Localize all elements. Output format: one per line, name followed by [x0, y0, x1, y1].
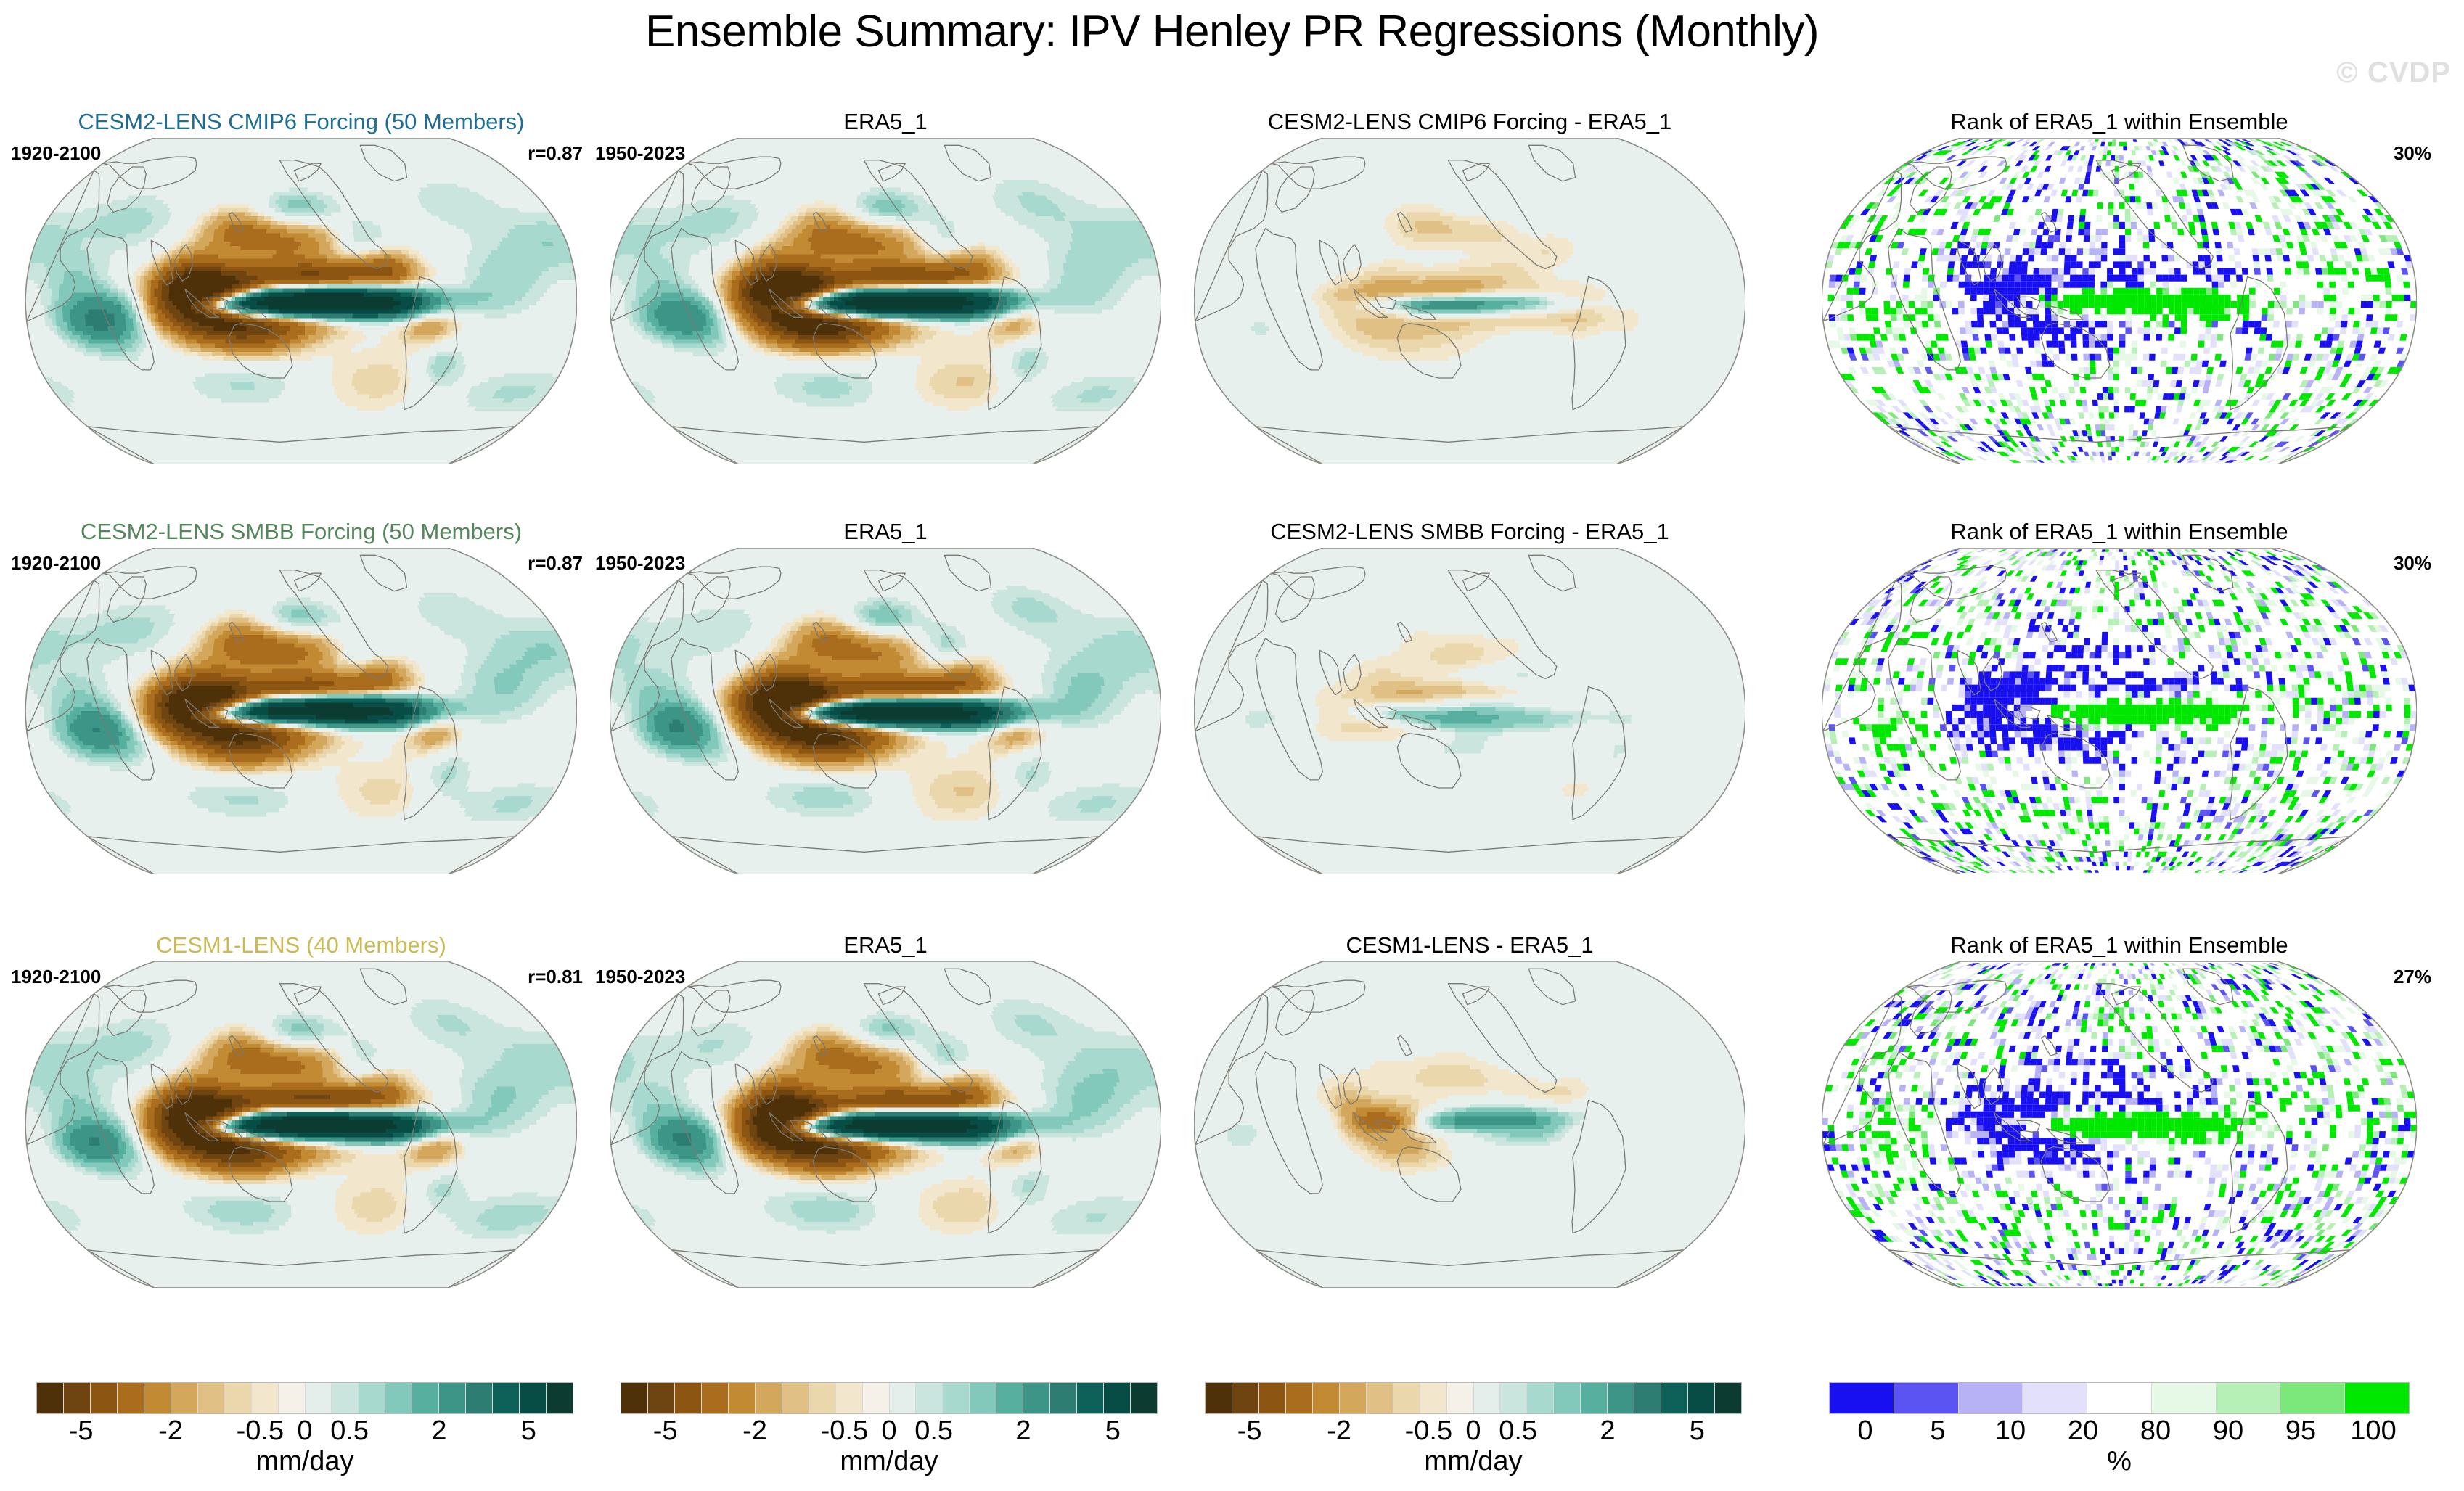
map-canvas-anom	[25, 548, 577, 874]
colorbar-tick-label: 80	[2140, 1416, 2171, 1447]
colorbar-swatch	[1634, 1383, 1661, 1413]
colorbar-swatch	[1077, 1383, 1104, 1413]
colorbar-swatch	[1023, 1383, 1050, 1413]
map-canvas-diff	[1194, 138, 1745, 464]
panel-title: CESM2-LENS SMBB Forcing (50 Members)	[11, 519, 592, 545]
colorbar-swatch	[1447, 1383, 1474, 1413]
colorbar-swatch	[225, 1383, 252, 1413]
panel-title: CESM1-LENS - ERA5_1	[1179, 932, 1760, 958]
colorbar-tick-label: 10	[1995, 1416, 2026, 1447]
colorbar-swatch	[996, 1383, 1023, 1413]
map-panel-cesm1-col3: CESM1-LENS - ERA5_1	[1179, 932, 1760, 1339]
colorbar-swatch	[547, 1383, 573, 1413]
colorbar-rank-percent: 051020809095100%	[1829, 1382, 2410, 1484]
colorbar-tick-label: -0.5	[237, 1416, 284, 1447]
map-panel-cesm2-cmip6-col1: CESM2-LENS CMIP6 Forcing (50 Members)192…	[11, 109, 592, 515]
colorbar-swatch	[675, 1383, 702, 1413]
map-canvas-anom	[25, 961, 577, 1288]
colorbar-swatch	[520, 1383, 547, 1413]
colorbar-tick-label: 2	[1015, 1416, 1031, 1447]
colorbar-swatch	[970, 1383, 996, 1413]
colorbar-unit-label: mm/day	[1205, 1446, 1742, 1477]
colorbar-swatch	[648, 1383, 675, 1413]
colorbar-swatch	[439, 1383, 466, 1413]
colorbar-swatch	[1313, 1383, 1340, 1413]
colorbar-swatch	[1340, 1383, 1367, 1413]
colorbar-swatch	[756, 1383, 782, 1413]
colorbar-swatch	[118, 1383, 144, 1413]
map-panel-cesm2-smbb-col2: ERA5_11950-2023	[595, 519, 1176, 925]
colorbar-swatch	[943, 1383, 970, 1413]
colorbar-swatch	[1688, 1383, 1715, 1413]
colorbar-swatch	[1367, 1383, 1393, 1413]
colorbar-swatch	[1581, 1383, 1608, 1413]
colorbar-mmday-3: -5-2-0.500.525mm/day	[1205, 1382, 1742, 1484]
colorbar-swatch	[2023, 1383, 2087, 1413]
panel-title: CESM2-LENS CMIP6 Forcing (50 Members)	[11, 109, 592, 135]
colorbar-swatch	[1959, 1383, 2023, 1413]
colorbar-swatch	[1661, 1383, 1688, 1413]
colorbar-swatch	[702, 1383, 729, 1413]
colorbar-swatch	[2217, 1383, 2281, 1413]
colorbar-swatch	[2152, 1383, 2217, 1413]
colorbar-swatch	[1474, 1383, 1501, 1413]
colorbar-ticks: -5-2-0.500.525	[1205, 1416, 1742, 1447]
colorbar-mmday-2: -5-2-0.500.525mm/day	[621, 1382, 1158, 1484]
colorbar-tick-label: 90	[2213, 1416, 2243, 1447]
map-canvas-rank	[1822, 138, 2417, 464]
colorbar-swatch	[1232, 1383, 1259, 1413]
colorbar-swatch	[1830, 1383, 1894, 1413]
colorbar-swatch	[621, 1383, 648, 1413]
colorbar-tick-label: 5	[1105, 1416, 1121, 1447]
colorbar-tick-label: 5	[521, 1416, 536, 1447]
colorbar-tick-label: 0.5	[1499, 1416, 1537, 1447]
colorbar-tick-label: 100	[2350, 1416, 2396, 1447]
panel-title: CESM2-LENS SMBB Forcing - ERA5_1	[1179, 519, 1760, 545]
colorbar-ticks: -5-2-0.500.525	[621, 1416, 1158, 1447]
colorbar-tick-label: 0	[1857, 1416, 1872, 1447]
colorbar-swatch	[359, 1383, 385, 1413]
colorbar-swatch	[863, 1383, 890, 1413]
colorbar-tick-label: 2	[431, 1416, 446, 1447]
colorbar-swatch	[916, 1383, 943, 1413]
colorbar-swatches	[1205, 1382, 1742, 1414]
colorbar-ticks: 051020809095100	[1829, 1416, 2410, 1447]
panel-title: CESM2-LENS CMIP6 Forcing - ERA5_1	[1179, 109, 1760, 135]
colorbar-swatch	[1104, 1383, 1131, 1413]
colorbar-tick-label: -5	[69, 1416, 94, 1447]
colorbar-unit-label: mm/day	[621, 1446, 1158, 1477]
colorbar-swatch	[1131, 1383, 1157, 1413]
colorbar-swatch	[493, 1383, 520, 1413]
colorbar-swatch	[198, 1383, 225, 1413]
colorbar-tick-label: 0.5	[914, 1416, 953, 1447]
colorbar-tick-label: -5	[1237, 1416, 1262, 1447]
colorbar-swatches	[36, 1382, 573, 1414]
colorbar-swatch	[782, 1383, 809, 1413]
colorbar-tick-label: 20	[2068, 1416, 2098, 1447]
colorbar-mmday-1: -5-2-0.500.525mm/day	[36, 1382, 573, 1484]
colorbar-swatch	[1286, 1383, 1313, 1413]
map-panel-cesm2-cmip6-col2: ERA5_11950-2023	[595, 109, 1176, 515]
colorbar-swatches	[1829, 1382, 2410, 1414]
colorbar-swatch	[1715, 1383, 1741, 1413]
map-panel-cesm1-col1: CESM1-LENS (40 Members)1920-2100r=0.81	[11, 932, 592, 1339]
panel-title: ERA5_1	[595, 109, 1176, 135]
map-canvas-rank	[1822, 961, 2417, 1288]
map-panel-cesm2-cmip6-col4: Rank of ERA5_1 within Ensemble30%	[1800, 109, 2439, 515]
colorbar-swatch	[412, 1383, 439, 1413]
map-canvas-diff	[1194, 548, 1745, 874]
colorbar-swatch	[171, 1383, 198, 1413]
colorbar-swatch	[890, 1383, 917, 1413]
colorbar-swatch	[1050, 1383, 1077, 1413]
colorbar-swatch	[1393, 1383, 1420, 1413]
colorbar-tick-label: -2	[158, 1416, 183, 1447]
map-panel-cesm2-cmip6-col3: CESM2-LENS CMIP6 Forcing - ERA5_1	[1179, 109, 1760, 515]
colorbar-ticks: -5-2-0.500.525	[36, 1416, 573, 1447]
colorbar-swatch	[836, 1383, 863, 1413]
map-panel-cesm1-col4: Rank of ERA5_1 within Ensemble27%	[1800, 932, 2439, 1339]
colorbar-tick-label: -5	[653, 1416, 678, 1447]
colorbar-tick-label: 0.5	[330, 1416, 369, 1447]
colorbar-tick-label: -2	[1327, 1416, 1351, 1447]
colorbar-swatch	[2280, 1383, 2345, 1413]
colorbar-swatch	[279, 1383, 306, 1413]
colorbar-swatch	[1206, 1383, 1232, 1413]
colorbar-swatch	[64, 1383, 91, 1413]
colorbar-tick-label: 2	[1600, 1416, 1615, 1447]
panel-title: Rank of ERA5_1 within Ensemble	[1800, 932, 2439, 958]
colorbar-swatch	[1420, 1383, 1447, 1413]
colorbar-tick-label: -0.5	[821, 1416, 868, 1447]
colorbar-tick-label: -2	[742, 1416, 767, 1447]
colorbar-swatches	[621, 1382, 1158, 1414]
map-panel-cesm2-smbb-col3: CESM2-LENS SMBB Forcing - ERA5_1	[1179, 519, 1760, 925]
map-panel-cesm2-smbb-col1: CESM2-LENS SMBB Forcing (50 Members)1920…	[11, 519, 592, 925]
panel-title: CESM1-LENS (40 Members)	[11, 932, 592, 958]
colorbar-swatch	[332, 1383, 359, 1413]
colorbar-swatch	[2087, 1383, 2152, 1413]
panel-title: Rank of ERA5_1 within Ensemble	[1800, 519, 2439, 545]
panel-title: ERA5_1	[595, 519, 1176, 545]
colorbar-swatch	[37, 1383, 64, 1413]
cvdp-watermark: © CVDP	[2336, 57, 2451, 89]
colorbar-unit-label: %	[1829, 1446, 2410, 1477]
colorbar-swatch	[1527, 1383, 1554, 1413]
colorbar-swatch	[1500, 1383, 1527, 1413]
colorbar-swatch	[144, 1383, 171, 1413]
map-canvas-anom	[25, 138, 577, 464]
colorbar-swatch	[385, 1383, 412, 1413]
colorbar-swatch	[809, 1383, 836, 1413]
page-title: Ensemble Summary: IPV Henley PR Regressi…	[0, 6, 2464, 57]
colorbar-tick-label: 0	[881, 1416, 896, 1447]
colorbar-swatch	[466, 1383, 493, 1413]
colorbar-swatch	[2345, 1383, 2409, 1413]
map-canvas-diff	[1194, 961, 1745, 1288]
colorbar-tick-label: 0	[297, 1416, 312, 1447]
colorbar-tick-label: 0	[1465, 1416, 1481, 1447]
colorbar-swatch	[1259, 1383, 1286, 1413]
map-panel-cesm2-smbb-col4: Rank of ERA5_1 within Ensemble30%	[1800, 519, 2439, 925]
colorbar-tick-label: 95	[2285, 1416, 2316, 1447]
colorbar-swatch	[252, 1383, 279, 1413]
colorbar-unit-label: mm/day	[36, 1446, 573, 1477]
colorbar-swatch	[306, 1383, 332, 1413]
map-canvas-anom	[610, 548, 1161, 874]
colorbar-tick-label: 5	[1930, 1416, 1945, 1447]
colorbar-swatch	[1894, 1383, 1959, 1413]
colorbar-tick-label: 5	[1690, 1416, 1705, 1447]
map-canvas-anom	[610, 138, 1161, 464]
panel-title: ERA5_1	[595, 932, 1176, 958]
colorbar-swatch	[1554, 1383, 1581, 1413]
map-panel-cesm1-col2: ERA5_11950-2023	[595, 932, 1176, 1339]
panel-title: Rank of ERA5_1 within Ensemble	[1800, 109, 2439, 135]
colorbar-swatch	[91, 1383, 118, 1413]
colorbar-swatch	[1608, 1383, 1634, 1413]
map-canvas-anom	[610, 961, 1161, 1288]
colorbar-swatch	[729, 1383, 756, 1413]
map-canvas-rank	[1822, 548, 2417, 874]
colorbar-tick-label: -0.5	[1405, 1416, 1452, 1447]
